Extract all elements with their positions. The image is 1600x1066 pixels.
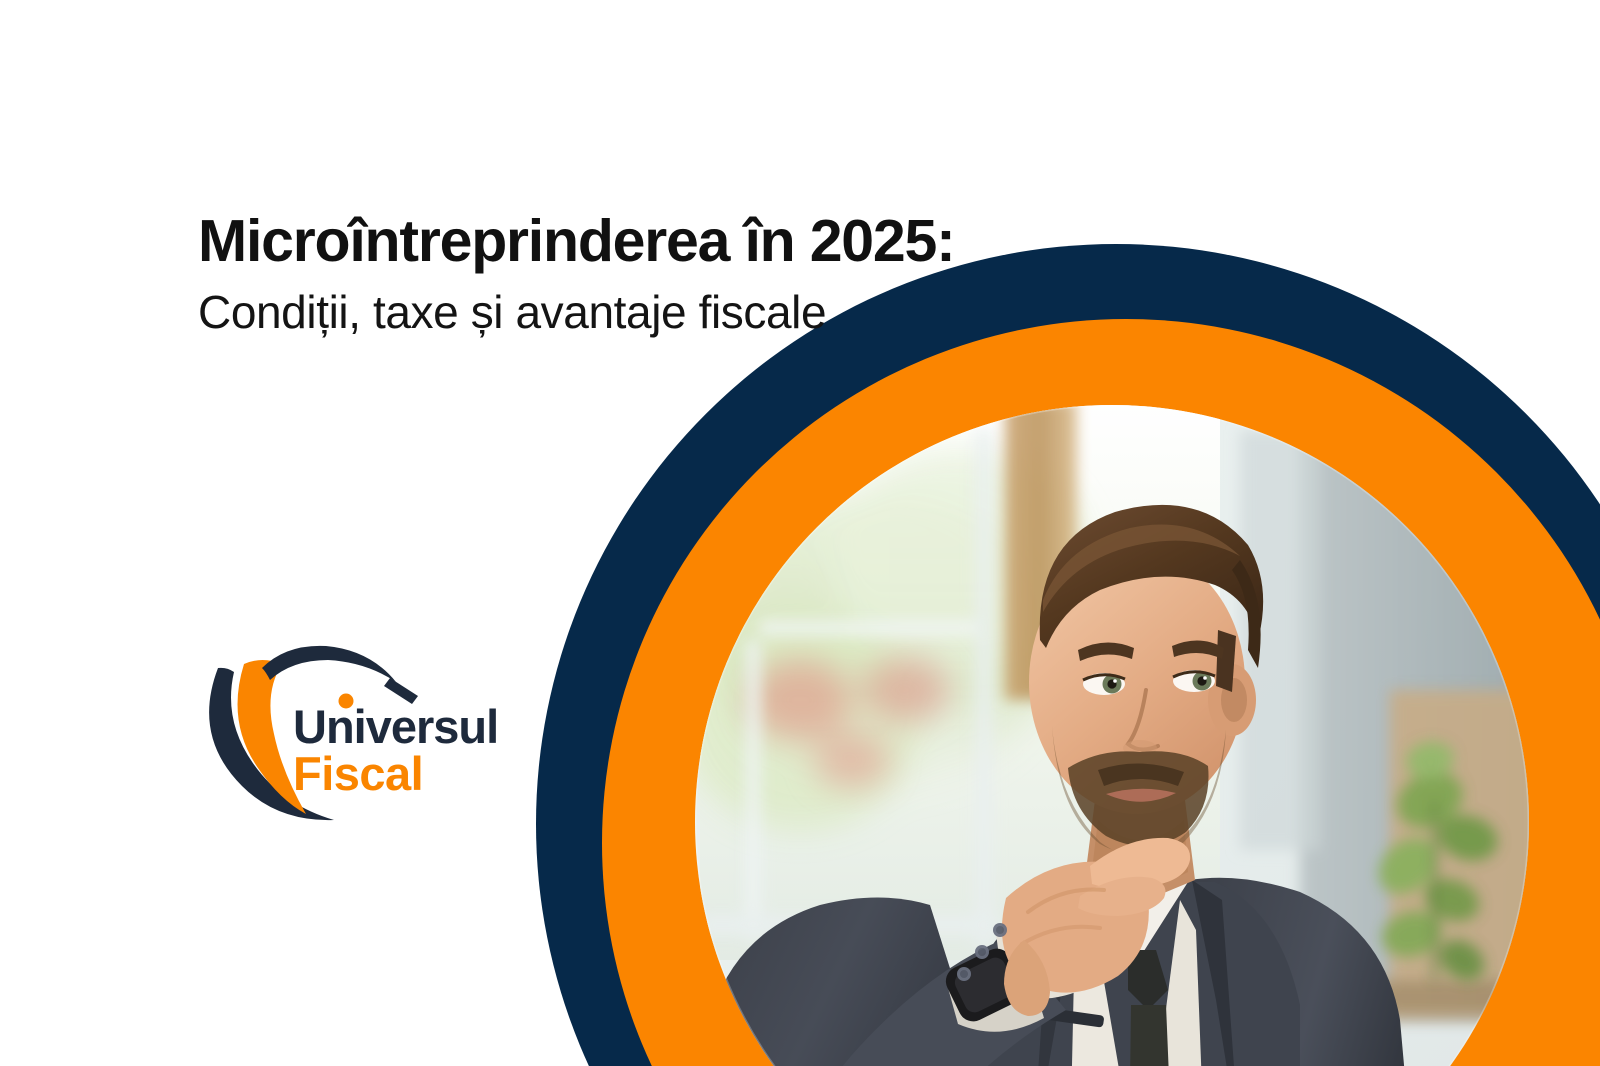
logo-name-primary: Universul bbox=[293, 700, 498, 753]
page-title: Microîntreprinderea în 2025: bbox=[198, 210, 1198, 273]
logo-name-secondary: Fiscal bbox=[293, 747, 423, 800]
portrait-photo bbox=[680, 400, 1540, 1066]
title-block: Microîntreprinderea în 2025: Condiții, t… bbox=[198, 210, 1198, 339]
brand-logo[interactable]: Universul Fiscal bbox=[200, 638, 530, 823]
logo-i-dot bbox=[339, 694, 354, 709]
logo-swoosh-navy-arc bbox=[262, 646, 396, 682]
ring-graphic bbox=[0, 0, 1600, 1066]
outer-navy-ring bbox=[536, 244, 1600, 1066]
promo-banner: Microîntreprinderea în 2025: Condiții, t… bbox=[0, 0, 1600, 1066]
page-subtitle: Condiții, taxe și avantaje fiscale bbox=[198, 285, 1198, 339]
middle-orange-ring bbox=[602, 319, 1600, 1066]
